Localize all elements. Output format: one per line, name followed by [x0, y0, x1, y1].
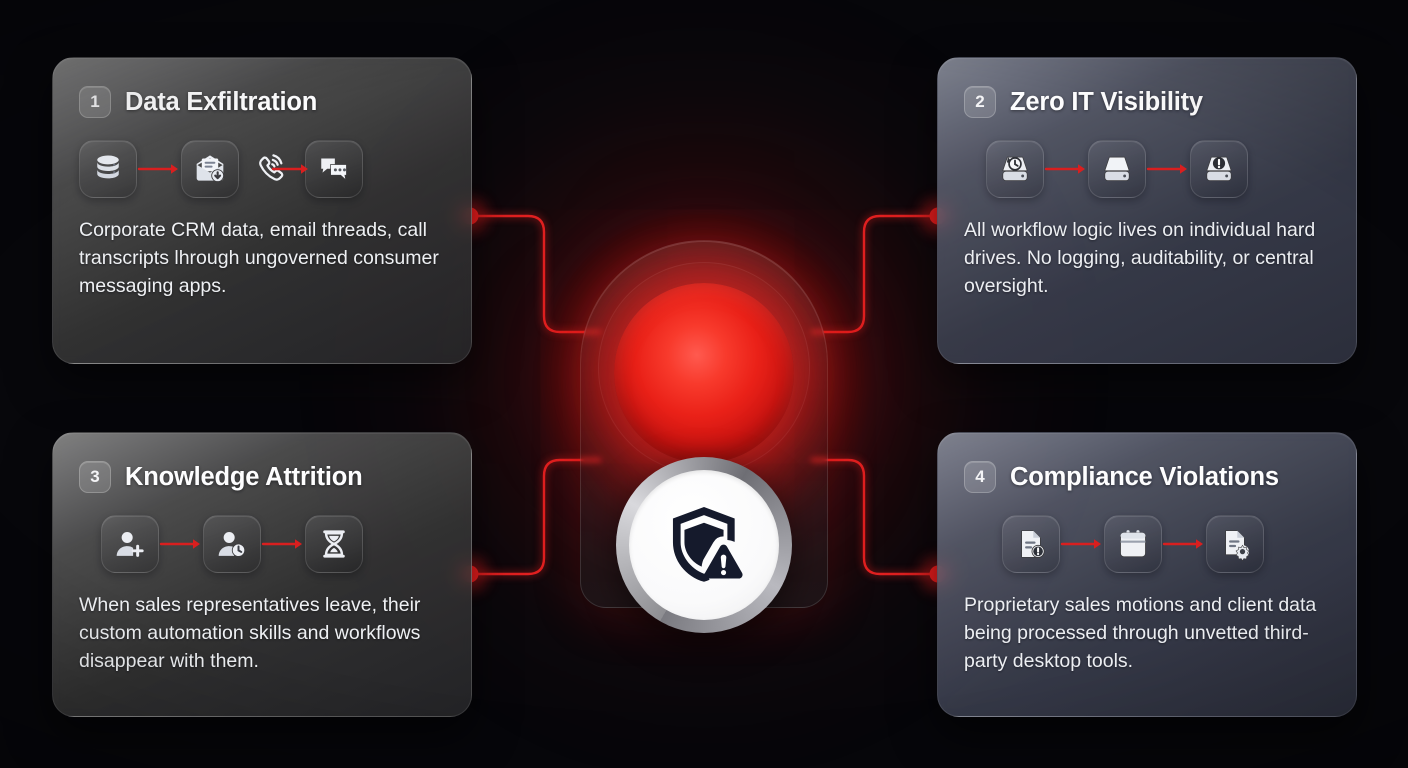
- card-icon-flow: [964, 515, 1330, 573]
- hard-drive-history-icon: [986, 140, 1044, 198]
- card-description: Proprietary sales motions and client dat…: [964, 591, 1330, 675]
- document-alert-icon: [1002, 515, 1060, 573]
- flow-arrow: [1146, 162, 1190, 176]
- calendar-icon: [1104, 515, 1162, 573]
- risk-card-knowledge-attrition[interactable]: 3 Knowledge Attrition: [52, 432, 472, 717]
- flow-arrow: [261, 537, 305, 551]
- card-header: 1 Data Exfiltration: [79, 86, 445, 118]
- card-title: Data Exfiltration: [125, 88, 317, 117]
- hub-badge-inner: [629, 470, 779, 620]
- user-clock-icon: [203, 515, 261, 573]
- hard-drive-alert-icon: [1190, 140, 1248, 198]
- shield-warning-icon: [658, 499, 750, 591]
- card-header: 2 Zero IT Visibility: [964, 86, 1330, 118]
- flow-arrow: [1162, 537, 1206, 551]
- card-icon-flow: [79, 140, 445, 198]
- card-title: Knowledge Attrition: [125, 463, 362, 492]
- chat-bubbles-icon: [305, 140, 363, 198]
- card-number-badge: 2: [964, 86, 996, 118]
- card-description: All workflow logic lives on individual h…: [964, 216, 1330, 300]
- flow-arrow: [1044, 162, 1088, 176]
- card-title: Compliance Violations: [1010, 463, 1279, 492]
- flow-arrow: [1060, 537, 1104, 551]
- hourglass-icon: [305, 515, 363, 573]
- risk-card-data-exfiltration[interactable]: 1 Data Exfiltration: [52, 57, 472, 364]
- hard-drive-icon: [1088, 140, 1146, 198]
- hub-red-orb: [614, 283, 794, 463]
- card-icon-flow: [964, 140, 1330, 198]
- document-settings-icon: [1206, 515, 1264, 573]
- card-icon-flow: [79, 515, 445, 573]
- card-title: Zero IT Visibility: [1010, 88, 1203, 117]
- risk-card-zero-it-visibility[interactable]: 2 Zero IT Visibility: [937, 57, 1357, 364]
- mail-open-download-icon: [181, 140, 239, 198]
- card-header: 4 Compliance Violations: [964, 461, 1330, 493]
- flow-arrow: [271, 162, 305, 176]
- card-description: When sales representatives leave, their …: [79, 591, 445, 675]
- flow-arrow: [137, 162, 181, 176]
- diagram-canvas: 1 Data Exfiltration: [0, 0, 1408, 768]
- connector-path-card-4: [812, 460, 930, 574]
- card-number-badge: 1: [79, 86, 111, 118]
- card-number-badge: 4: [964, 461, 996, 493]
- database-icon: [79, 140, 137, 198]
- flow-arrow: [159, 537, 203, 551]
- card-number-badge: 3: [79, 461, 111, 493]
- risk-card-compliance-violations[interactable]: 4 Compliance Violations: [937, 432, 1357, 717]
- card-description: Corporate CRM data, email threads, call …: [79, 216, 445, 300]
- card-header: 3 Knowledge Attrition: [79, 461, 445, 493]
- user-add-icon: [101, 515, 159, 573]
- hub-badge[interactable]: [616, 457, 792, 633]
- center-hub: [580, 240, 828, 608]
- connector-path-card-2: [812, 216, 930, 332]
